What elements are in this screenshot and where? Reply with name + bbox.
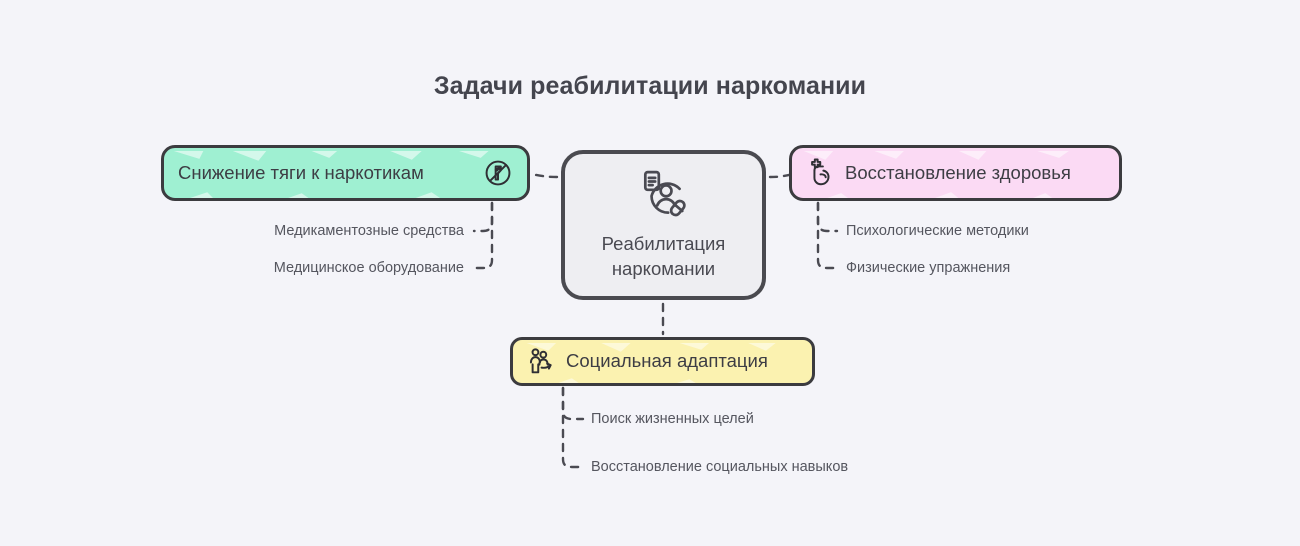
central-node-label: Реабилитация наркомании — [602, 232, 726, 282]
branch-node-health-label: Восстановление здоровья — [845, 164, 1071, 183]
branch-node-social-label: Социальная адаптация — [566, 352, 768, 371]
connector-social-leaf-1 — [563, 388, 583, 419]
connector-social-leaf-2 — [563, 388, 583, 467]
connector-health-leaf-2 — [818, 203, 838, 268]
leaf-craving-1: Медикаментозные средства — [180, 224, 464, 239]
central-node-label-line1: Реабилитация — [602, 233, 726, 254]
branch-node-craving[interactable]: Снижение тяги к наркотикам — [161, 145, 530, 201]
connector-craving-leaf-2 — [473, 203, 492, 268]
central-node-label-line2: наркомании — [612, 258, 715, 279]
leaf-craving-2: Медицинское оборудование — [180, 261, 464, 276]
leaf-social-2: Восстановление социальных навыков — [591, 460, 848, 475]
connector-center-to-craving — [532, 174, 557, 177]
no-drugs-icon — [483, 158, 513, 188]
people-group-arrow-icon — [527, 347, 557, 377]
connector-health-leaf-1 — [818, 203, 837, 231]
branch-node-craving-label: Снижение тяги к наркотикам — [178, 164, 424, 183]
leaf-health-1: Психологические методики — [846, 224, 1029, 239]
page-title: Задачи реабилитации наркомании — [0, 72, 1300, 101]
central-node[interactable]: Реабилитация наркомании — [561, 150, 766, 300]
leaf-social-1: Поиск жизненных целей — [591, 412, 754, 427]
connector-craving-leaf-1 — [474, 203, 492, 231]
person-document-pill-icon — [637, 168, 691, 222]
hand-medical-cross-icon — [806, 158, 836, 188]
leaf-health-2: Физические упражнения — [846, 261, 1010, 276]
branch-node-health[interactable]: Восстановление здоровья — [789, 145, 1122, 201]
branch-node-social[interactable]: Социальная адаптация — [510, 337, 815, 386]
